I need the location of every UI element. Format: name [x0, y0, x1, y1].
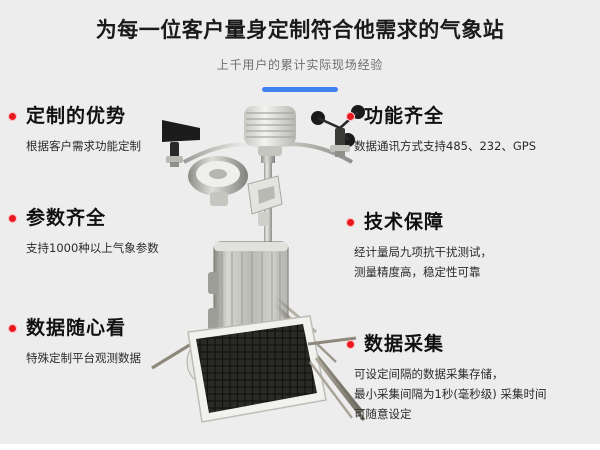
red-dot-icon — [346, 340, 355, 349]
accent-divider — [262, 87, 338, 92]
feature-customization-advantage: 定制的优势 根据客户需求功能定制 — [8, 106, 208, 156]
red-dot-icon — [346, 218, 355, 227]
feature-title: 参数齐全 — [26, 208, 106, 229]
red-dot-icon — [8, 214, 17, 223]
feature-head: 参数齐全 — [8, 208, 208, 229]
angled-sensor-plate — [248, 176, 282, 226]
feature-desc-line: 特殊定制平台观测数据 — [26, 348, 208, 368]
page-title: 为每一位客户量身定制符合他需求的气象站 — [0, 0, 600, 43]
feature-column-left: 定制的优势 根据客户需求功能定制 参数齐全 支持1000种以上气象参数 数据随心… — [8, 106, 208, 368]
feature-desc: 根据客户需求功能定制 — [8, 136, 208, 156]
feature-title: 数据采集 — [364, 334, 444, 355]
feature-desc-line: 支持1000种以上气象参数 — [26, 238, 208, 258]
feature-desc-line: 测量精度高，稳定性可靠 — [354, 262, 598, 282]
page-subtitle: 上千用户的累计实际现场经验 — [0, 43, 600, 73]
feature-head: 数据采集 — [346, 334, 598, 355]
feature-desc-line: 根据客户需求功能定制 — [26, 136, 208, 156]
feature-title: 功能齐全 — [364, 106, 444, 127]
feature-desc-line: 可设定间隔的数据采集存储， — [354, 364, 598, 384]
poster-canvas: 为每一位客户量身定制符合他需求的气象站 上千用户的累计实际现场经验 — [0, 0, 600, 450]
feature-desc: 数据通讯方式支持485、232、GPS — [346, 136, 598, 156]
feature-desc: 特殊定制平台观测数据 — [8, 348, 208, 368]
feature-title: 定制的优势 — [26, 106, 126, 127]
feature-column-right: 功能齐全 数据通讯方式支持485、232、GPS 技术保障 经计量局九项抗干扰测… — [346, 106, 598, 424]
poster-header: 为每一位客户量身定制符合他需求的气象站 上千用户的累计实际现场经验 — [0, 0, 600, 92]
red-dot-icon — [346, 112, 355, 121]
feature-desc: 经计量局九项抗干扰测试， 测量精度高，稳定性可靠 — [346, 242, 598, 282]
feature-data-acquisition: 数据采集 可设定间隔的数据采集存储， 最小采集间隔为1秒(毫秒级) 采集时间 可… — [346, 334, 598, 424]
feature-head: 功能齐全 — [346, 106, 598, 127]
red-dot-icon — [8, 324, 17, 333]
feature-desc: 可设定间隔的数据采集存储， 最小采集间隔为1秒(毫秒级) 采集时间 可随意设定 — [346, 364, 598, 424]
radiation-shield-sensor — [244, 106, 296, 156]
feature-data-viewing: 数据随心看 特殊定制平台观测数据 — [8, 318, 208, 368]
feature-desc-line: 可随意设定 — [354, 404, 598, 424]
solar-panel — [188, 316, 326, 422]
feature-title: 数据随心看 — [26, 318, 126, 339]
feature-head: 数据随心看 — [8, 318, 208, 339]
red-dot-icon — [8, 112, 17, 121]
feature-desc-line: 最小采集间隔为1秒(毫秒级) 采集时间 — [354, 384, 598, 404]
feature-technical-guarantee: 技术保障 经计量局九项抗干扰测试， 测量精度高，稳定性可靠 — [346, 212, 598, 282]
feature-title: 技术保障 — [364, 212, 444, 233]
feature-head: 定制的优势 — [8, 106, 208, 127]
feature-full-parameters: 参数齐全 支持1000种以上气象参数 — [8, 208, 208, 258]
feature-desc-line: 数据通讯方式支持485、232、GPS — [354, 136, 598, 156]
feature-desc-line: 经计量局九项抗干扰测试， — [354, 242, 598, 262]
feature-desc: 支持1000种以上气象参数 — [8, 238, 208, 258]
feature-full-function: 功能齐全 数据通讯方式支持485、232、GPS — [346, 106, 598, 156]
feature-head: 技术保障 — [346, 212, 598, 233]
bottom-white-strip — [0, 444, 600, 450]
